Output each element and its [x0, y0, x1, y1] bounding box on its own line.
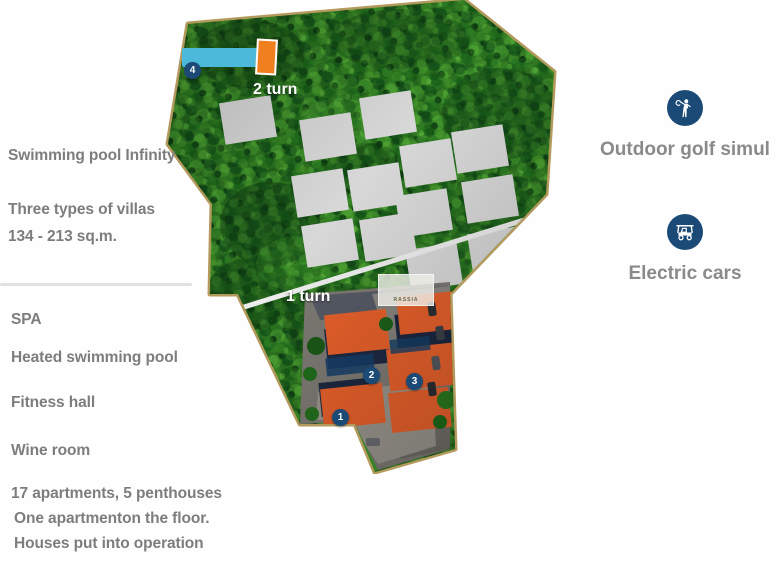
- feature-fitness-hall: Fitness hall: [11, 394, 95, 412]
- amenity-label-electric-cars: Electric cars: [590, 263, 780, 285]
- golf-cart-glyph: [674, 221, 696, 243]
- golf-cart-icon: [667, 214, 703, 250]
- amenity-outdoor-golf-simulator[interactable]: Outdoor golf simul: [590, 90, 780, 161]
- turn-label-1: 1 turn: [286, 288, 330, 306]
- map-marker-3[interactable]: 3: [406, 373, 423, 390]
- turn-label-2: 2 turn: [253, 81, 297, 99]
- map-marker-label: 4: [190, 65, 196, 76]
- feature-spa: SPA: [11, 311, 41, 329]
- map-marker-label: 1: [338, 412, 344, 423]
- aerial-site-map[interactable]: RASSIA: [150, 0, 570, 474]
- golf-player-icon: [667, 90, 703, 126]
- feature-heated-swimming-pool: Heated swimming pool: [11, 349, 178, 367]
- clubhouse-block: [255, 38, 278, 75]
- feature-apartments-count: 17 apartments, 5 penthouses: [11, 485, 222, 503]
- feature-three-types-of-villas: Three types of villas: [8, 201, 155, 219]
- map-marker-2[interactable]: 2: [363, 367, 380, 384]
- map-svg: [150, 0, 570, 474]
- feature-swimming-pool-infinity: Swimming pool Infinity: [8, 147, 175, 165]
- map-marker-1[interactable]: 1: [332, 409, 349, 426]
- map-marker-4[interactable]: 4: [184, 62, 201, 79]
- feature-one-apartment-per-floor: One apartmenton the floor.: [14, 510, 209, 528]
- feature-villa-area-range: 134 - 213 sq.m.: [8, 228, 117, 246]
- feature-wine-room: Wine room: [11, 442, 90, 460]
- map-watermark: RASSIA: [378, 274, 434, 306]
- map-marker-label: 3: [412, 376, 418, 387]
- golf-player-glyph: [674, 97, 696, 119]
- watermark-text: RASSIA: [394, 297, 419, 303]
- map-marker-label: 2: [369, 370, 375, 381]
- real-estate-site-plan: RASSIA 2 turn 1 turn 4 2 3 1 Swimming po…: [0, 0, 780, 580]
- amenity-label-golf: Outdoor golf simul: [590, 139, 780, 161]
- feature-houses-in-operation: Houses put into operation: [14, 535, 204, 553]
- amenity-electric-cars[interactable]: Electric cars: [590, 214, 780, 285]
